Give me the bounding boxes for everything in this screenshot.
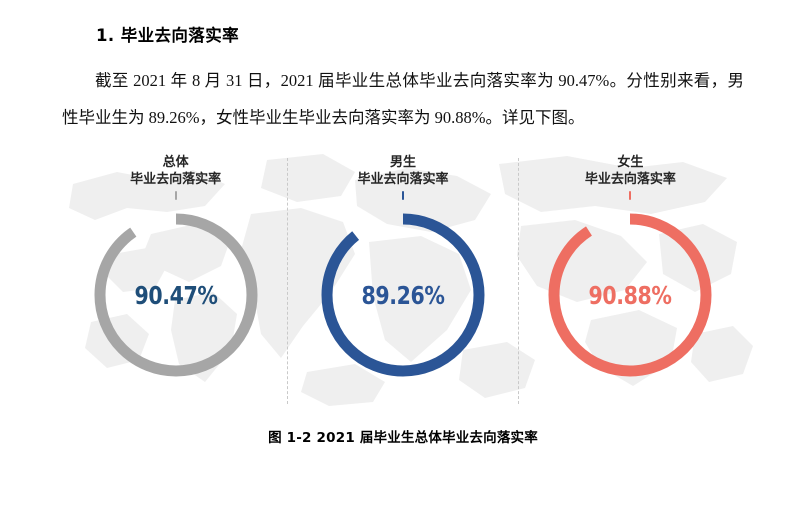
donut-title-female: 女生毕业去向落实率 (585, 154, 676, 188)
figure-caption: 图 1-2 2021 届毕业生总体毕业去向落实率 (0, 418, 806, 446)
title-tick-female (629, 191, 631, 200)
donut-chart-female: 女生毕业去向落实率 90.88% (517, 150, 744, 386)
donut-ring-female: 90.88% (539, 204, 721, 386)
donut-title-female-line2: 毕业去向落实率 (585, 172, 676, 187)
donut-ring-overall: 90.47% (85, 204, 267, 386)
figure-donut-charts: 总体毕业去向落实率 90.47% 男生毕业去向落实率 89.26% (0, 150, 806, 418)
donut-value-male: 89.26% (328, 204, 477, 386)
donut-chart-male: 男生毕业去向落实率 89.26% (289, 150, 516, 386)
title-tick-male (402, 191, 404, 200)
donut-title-overall-line2: 毕业去向落实率 (130, 172, 221, 187)
donut-title-male-line1: 男生 (390, 155, 416, 170)
donut-value-overall: 90.47% (101, 204, 250, 386)
donut-ring-male: 89.26% (312, 204, 494, 386)
donut-title-overall: 总体毕业去向落实率 (130, 154, 221, 188)
page-title: 1. 毕业去向落实率 (0, 0, 806, 46)
charts-row: 总体毕业去向落实率 90.47% 男生毕业去向落实率 89.26% (0, 150, 806, 386)
document-page: 1. 毕业去向落实率 截至 2021 年 8 月 31 日，2021 届毕业生总… (0, 0, 806, 446)
donut-value-female: 90.88% (556, 204, 705, 386)
title-tick-overall (175, 191, 177, 200)
donut-title-overall-line1: 总体 (163, 155, 189, 170)
donut-title-male: 男生毕业去向落实率 (357, 154, 448, 188)
donut-title-male-line2: 毕业去向落实率 (357, 172, 448, 187)
body-paragraph: 截至 2021 年 8 月 31 日，2021 届毕业生总体毕业去向落实率为 9… (0, 46, 806, 136)
donut-chart-overall: 总体毕业去向落实率 90.47% (62, 150, 289, 386)
donut-title-female-line1: 女生 (617, 155, 643, 170)
